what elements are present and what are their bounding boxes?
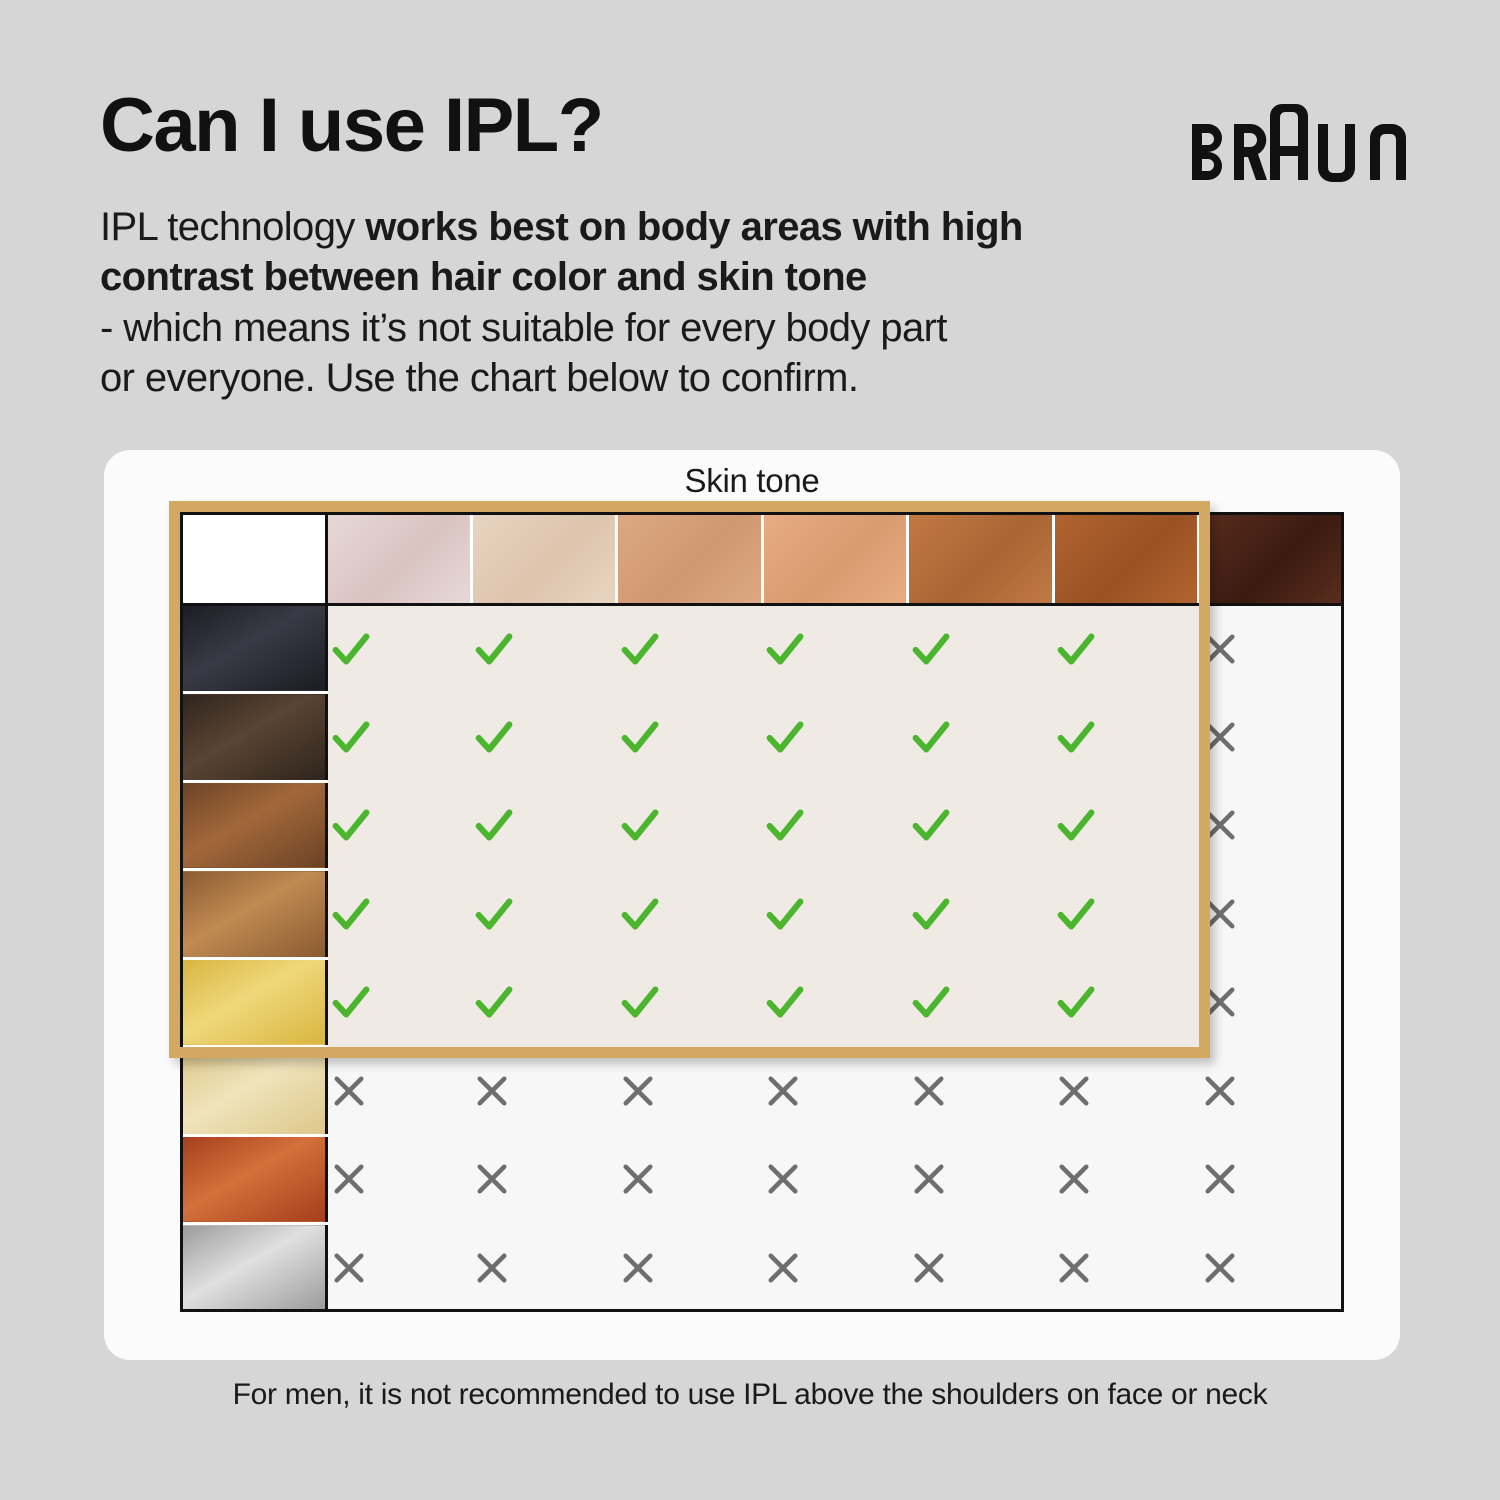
check-icon [1053,802,1198,848]
cell-not-suitable [762,1047,907,1136]
cross-icon [1199,628,1344,670]
cell-not-suitable [1199,1047,1344,1136]
check-icon [908,802,1053,848]
skin-tone-swatch-5 [908,512,1053,604]
cross-icon [1053,1247,1198,1289]
skin-tone-swatch-1 [326,512,471,604]
hair-color-swatch-7 [180,1135,326,1224]
cross-icon [328,1247,472,1289]
cell-suitable [762,781,907,870]
hair-color-swatch-8 [180,1224,326,1313]
cell-not-suitable [908,1047,1053,1136]
cross-icon [471,1158,616,1200]
cell-suitable [326,958,471,1047]
cell-not-suitable [617,1135,762,1224]
cell-not-suitable [1199,870,1344,959]
skin-tone-swatch-7 [1199,512,1344,604]
check-icon [1053,714,1198,760]
cross-icon [1199,893,1344,935]
cell-not-suitable [1053,1135,1198,1224]
cross-icon [328,1070,472,1112]
cell-suitable [908,781,1053,870]
check-icon [328,802,472,848]
cross-icon [471,1070,616,1112]
subheading-line-4: or everyone. Use the chart below to conf… [100,353,1300,403]
check-icon [908,979,1053,1025]
matrix-row [180,958,1344,1047]
check-icon [762,714,907,760]
cell-not-suitable [1053,1224,1198,1313]
check-icon [762,626,907,672]
cross-icon [617,1158,762,1200]
cross-icon [1199,716,1344,758]
subheading-normal-1: IPL technology [100,205,365,249]
cross-icon [1053,1070,1198,1112]
matrix-corner-blank [180,512,326,604]
skin-tone-swatch-4 [762,512,907,604]
cell-not-suitable [617,1047,762,1136]
cell-suitable [617,958,762,1047]
cell-suitable [762,958,907,1047]
check-icon [328,626,472,672]
check-icon [471,626,616,672]
cell-not-suitable [617,1224,762,1313]
cross-icon [617,1247,762,1289]
check-icon [1053,626,1198,672]
cell-suitable [1053,958,1198,1047]
skin-tone-swatch-3 [617,512,762,604]
check-icon [1053,891,1198,937]
subheading-line-3: - which means it’s not suitable for ever… [100,303,1300,353]
hair-color-swatch-4 [180,870,326,959]
cell-not-suitable [1053,1047,1198,1136]
hair-color-swatch-1 [180,604,326,693]
matrix-table [180,512,1344,1312]
check-icon [617,802,762,848]
subheading-bold-1: works best on body areas with high [365,205,1023,249]
cross-icon [762,1158,907,1200]
cell-suitable [471,781,616,870]
cell-suitable [1053,693,1198,782]
check-icon [328,891,472,937]
cell-not-suitable [762,1135,907,1224]
cell-suitable [908,693,1053,782]
matrix-row [180,1224,1344,1313]
matrix-row [180,693,1344,782]
compatibility-matrix [180,512,1344,1312]
cell-suitable [762,870,907,959]
cell-not-suitable [1199,1224,1344,1313]
cross-icon [908,1247,1053,1289]
cross-icon [908,1070,1053,1112]
cell-suitable [1053,604,1198,693]
cell-suitable [326,604,471,693]
cross-icon [328,1158,472,1200]
cell-not-suitable [471,1135,616,1224]
skin-tone-swatch-2 [471,512,616,604]
cell-suitable [1053,870,1198,959]
check-icon [617,891,762,937]
cell-suitable [617,781,762,870]
check-icon [471,714,616,760]
infographic-page: Can I use IPL? IPL technology works [0,0,1500,1500]
skin-tone-axis-label: Skin tone [104,462,1400,500]
hair-color-swatch-5 [180,958,326,1047]
subheading: IPL technology works best on body areas … [100,202,1300,404]
cell-suitable [326,870,471,959]
check-icon [328,714,472,760]
check-icon [762,979,907,1025]
check-icon [471,979,616,1025]
cell-not-suitable [1199,693,1344,782]
chart-card: Skin tone Hair color [104,450,1400,1360]
cell-suitable [762,693,907,782]
cell-suitable [908,604,1053,693]
cell-not-suitable [908,1224,1053,1313]
cell-not-suitable [326,1135,471,1224]
cell-suitable [908,958,1053,1047]
hair-color-swatch-6 [180,1047,326,1136]
cell-not-suitable [762,1224,907,1313]
cell-suitable [617,870,762,959]
matrix-row [180,1047,1344,1136]
cell-suitable [617,693,762,782]
subheading-line-2: contrast between hair color and skin ton… [100,252,1300,302]
cell-suitable [471,693,616,782]
cross-icon [471,1247,616,1289]
matrix-row [180,604,1344,693]
cell-not-suitable [1199,1135,1344,1224]
cross-icon [1053,1158,1198,1200]
cross-icon [1199,981,1344,1023]
cell-suitable [762,604,907,693]
cell-not-suitable [1199,604,1344,693]
check-icon [908,891,1053,937]
check-icon [471,802,616,848]
matrix-row [180,781,1344,870]
check-icon [328,979,472,1025]
cross-icon [1199,1247,1344,1289]
check-icon [471,891,616,937]
cell-not-suitable [471,1047,616,1136]
check-icon [617,626,762,672]
cell-suitable [908,870,1053,959]
skin-tone-header-row [180,512,1344,604]
cell-suitable [1053,781,1198,870]
cell-not-suitable [1199,781,1344,870]
subheading-line-1: IPL technology works best on body areas … [100,202,1300,252]
cell-not-suitable [326,1047,471,1136]
braun-logo [1190,102,1420,186]
check-icon [762,802,907,848]
cell-suitable [471,604,616,693]
header: Can I use IPL? IPL technology works [100,88,1420,404]
cell-not-suitable [908,1135,1053,1224]
cell-not-suitable [326,1224,471,1313]
cross-icon [1199,1158,1344,1200]
cell-suitable [471,958,616,1047]
check-icon [617,714,762,760]
cross-icon [1199,804,1344,846]
cell-suitable [326,781,471,870]
cell-not-suitable [1199,958,1344,1047]
cross-icon [1199,1070,1344,1112]
hair-color-swatch-3 [180,781,326,870]
check-icon [908,626,1053,672]
cross-icon [762,1247,907,1289]
cell-suitable [471,870,616,959]
check-icon [908,714,1053,760]
matrix-row [180,870,1344,959]
matrix-row [180,1135,1344,1224]
cell-suitable [617,604,762,693]
footer-caption: For men, it is not recommended to use IP… [0,1378,1500,1412]
cell-not-suitable [471,1224,616,1313]
cross-icon [908,1158,1053,1200]
cell-suitable [326,693,471,782]
check-icon [1053,979,1198,1025]
cross-icon [617,1070,762,1112]
cross-icon [762,1070,907,1112]
skin-tone-swatch-6 [1053,512,1198,604]
hair-color-swatch-2 [180,693,326,782]
check-icon [762,891,907,937]
check-icon [617,979,762,1025]
